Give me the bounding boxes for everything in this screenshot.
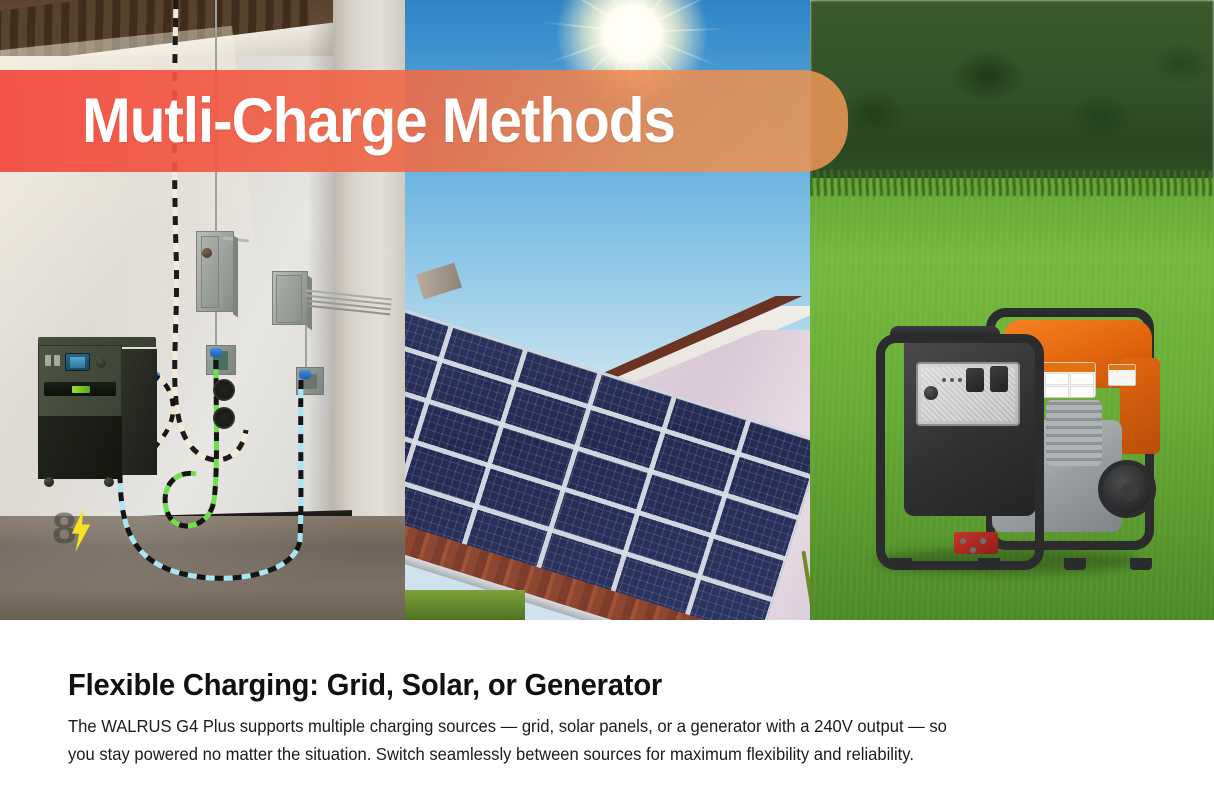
power-station: 8	[38, 337, 156, 481]
lightning-bolt-logo	[70, 508, 92, 552]
station-dial[interactable]	[96, 358, 106, 368]
banner-title: Mutli-Charge Methods	[82, 90, 675, 153]
station-control-face	[38, 345, 122, 417]
hedge-background	[810, 0, 1214, 190]
ground-strip	[405, 590, 525, 620]
caption-block: Flexible Charging: Grid, Solar, or Gener…	[0, 620, 1214, 809]
forsythia-bush	[803, 540, 810, 620]
station-caster-right	[104, 477, 114, 487]
station-lcd-display	[65, 353, 90, 371]
station-status-bar	[44, 382, 116, 396]
generator-charging-photo	[810, 0, 1214, 620]
generator-flywheel	[1098, 460, 1156, 518]
headline: Flexible Charging: Grid, Solar, or Gener…	[68, 667, 662, 703]
banner: Mutli-Charge Methods	[0, 70, 848, 172]
station-fan-lower	[213, 407, 235, 429]
station-body: 8	[38, 416, 122, 479]
portable-generator	[868, 300, 1164, 570]
generator-foot-left	[890, 558, 912, 570]
body-line-1: The WALRUS G4 Plus supports multiple cha…	[68, 713, 1091, 741]
station-fan-upper	[213, 379, 235, 401]
generator-foot-right	[1064, 558, 1086, 570]
generator-frame-front	[876, 334, 1044, 570]
generator-cylinder-head	[1046, 400, 1102, 466]
generator-foot-rear	[1130, 558, 1152, 570]
product-feature-card: 8	[0, 0, 1214, 809]
station-button-b[interactable]	[54, 355, 60, 366]
generator-foot-mid	[978, 558, 1000, 570]
station-side-panel	[121, 349, 157, 475]
secondary-warning-label	[1108, 364, 1136, 386]
station-button-a[interactable]	[45, 355, 51, 366]
body-line-2: you stay powered no matter the situation…	[68, 741, 1091, 769]
station-caster-left	[44, 477, 54, 487]
body-copy: The WALRUS G4 Plus supports multiple cha…	[68, 713, 1091, 769]
